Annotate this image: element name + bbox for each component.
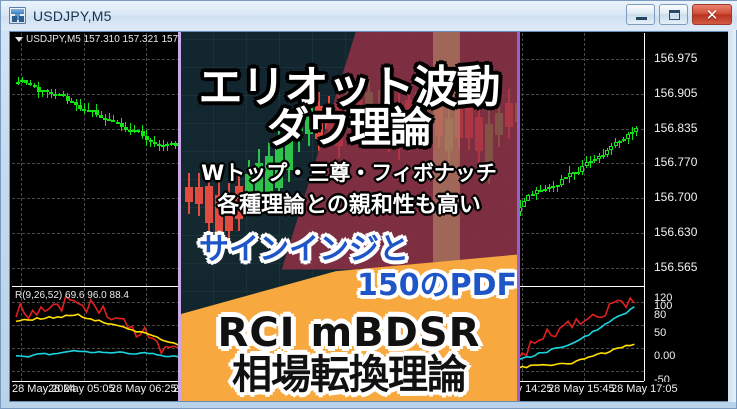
maximize-icon bbox=[669, 10, 680, 20]
candle-body bbox=[593, 159, 597, 162]
mt4-window: USDJPY,M5 ✕ bbox=[0, 0, 737, 409]
candle-body bbox=[560, 179, 564, 185]
window-title: USDJPY,M5 bbox=[33, 8, 112, 24]
indicator-axis-label: 80 bbox=[654, 309, 666, 321]
title-bar: USDJPY,M5 ✕ bbox=[1, 1, 737, 30]
overlay-sub-line2: 各種理論との親和性も高い bbox=[181, 195, 517, 217]
time-axis-label: 28 May 06:25 bbox=[110, 383, 177, 395]
overlay-blue-line1: サインインジと bbox=[181, 235, 520, 265]
minimize-button[interactable] bbox=[626, 4, 655, 25]
candle-body bbox=[556, 185, 560, 187]
price-axis-label: 156.905 bbox=[654, 86, 697, 100]
close-icon: ✕ bbox=[693, 5, 731, 24]
candle-body bbox=[626, 134, 630, 138]
candle-body bbox=[543, 189, 547, 191]
price-pane-label: USDJPY,M5 157.310 157.321 157. bbox=[15, 34, 181, 45]
candle-body bbox=[589, 161, 593, 163]
overlay-bottom-line1: RCI mBDSR bbox=[181, 313, 517, 353]
price-axis-labels: 156.975156.905156.835156.770156.700156.6… bbox=[650, 32, 731, 288]
time-axis-label: 28 May 05:05 bbox=[48, 383, 115, 395]
candle-body bbox=[630, 132, 634, 135]
price-axis-label: 156.565 bbox=[654, 260, 697, 274]
price-axis-label: 156.835 bbox=[654, 121, 697, 135]
overlay-sub-line1: Wトップ・三尊・フィボナッチ bbox=[181, 163, 517, 184]
close-button[interactable]: ✕ bbox=[692, 4, 732, 25]
candle-body bbox=[622, 139, 626, 142]
chart-canvas[interactable]: USDJPY,M5 157.310 157.321 157. R(9,26,52… bbox=[10, 32, 731, 402]
candle-body bbox=[576, 172, 580, 174]
time-axis-label: 28 May 17:05 bbox=[611, 383, 678, 395]
window-scroll-edge bbox=[728, 30, 736, 402]
candle-body bbox=[522, 201, 526, 207]
candle-body bbox=[605, 150, 609, 155]
candle-body bbox=[601, 155, 605, 157]
window-controls: ✕ bbox=[626, 4, 732, 25]
overlay-bottom-line2: 相場転換理論 bbox=[181, 355, 517, 395]
candle-body bbox=[531, 194, 535, 196]
minimize-icon bbox=[636, 17, 647, 20]
overlay-candle-wick bbox=[518, 89, 520, 134]
time-axis-label: 28 May 15:45 bbox=[548, 383, 615, 395]
candle-body bbox=[564, 177, 568, 179]
price-axis-label: 156.770 bbox=[654, 155, 697, 169]
chevron-down-icon[interactable] bbox=[15, 37, 23, 42]
overlay-title-line2: ダウ理論 bbox=[181, 107, 517, 149]
overlay-blue-line2: 150のPDF bbox=[181, 271, 520, 301]
candle-body bbox=[609, 146, 613, 150]
price-pane-label-text: USDJPY,M5 157.310 157.321 157. bbox=[26, 34, 181, 45]
indicator-axis-label: 0.00 bbox=[654, 350, 675, 362]
indicator-axis-labels: 12010080500.00-50-80-100 bbox=[650, 288, 731, 383]
candle-body bbox=[634, 128, 638, 132]
maximize-button[interactable] bbox=[659, 4, 688, 25]
price-axis-label: 156.630 bbox=[654, 225, 697, 239]
mt4-chart-icon bbox=[9, 7, 26, 24]
price-axis-label: 156.700 bbox=[654, 190, 697, 204]
candle-body bbox=[580, 166, 584, 172]
candle-wick bbox=[105, 114, 106, 126]
chart-container[interactable]: USDJPY,M5 157.310 157.321 157. R(9,26,52… bbox=[9, 31, 731, 402]
promo-overlay: エリオット波動 ダウ理論 Wトップ・三尊・フィボナッチ 各種理論との親和性も高い… bbox=[178, 32, 520, 402]
indicator-axis-label: 50 bbox=[654, 327, 666, 339]
candle-body bbox=[618, 141, 622, 143]
price-axis-label: 156.975 bbox=[654, 51, 697, 65]
price-axis-line bbox=[644, 33, 645, 381]
indicator-pane-label: R(9,26,52) 69.6 96.0 88.4 bbox=[15, 290, 129, 301]
